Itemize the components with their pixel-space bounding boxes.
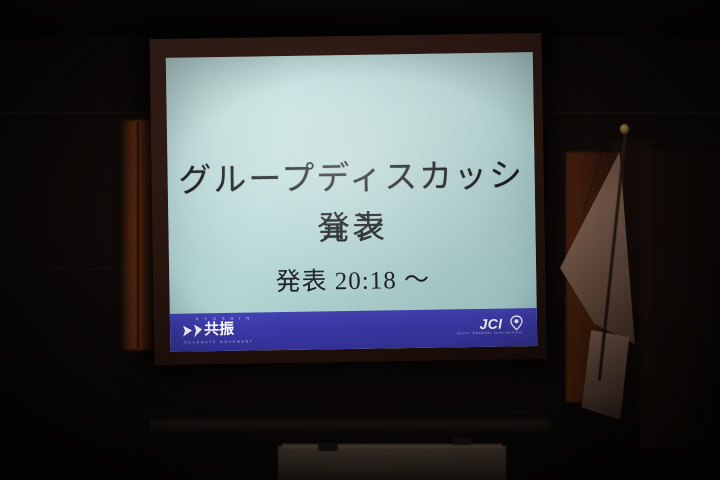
projection-screen-surface: グループディスカッション 発表 発表 20:18 〜 K Y O S H I N… <box>166 52 538 352</box>
gold-finial <box>620 124 629 134</box>
slide-footer-banner: K Y O S H I N 共振 RESONATE MOVEMENT JCI J… <box>170 308 538 352</box>
kyoshin-kanji: 共振 <box>204 320 234 338</box>
slide-title-line-2: 発表 <box>168 198 536 252</box>
jci-tagline: Junior Chamber International <box>457 330 523 335</box>
kyoshin-tagline: RESONATE MOVEMENT <box>184 339 254 344</box>
ceiling-band <box>0 0 720 36</box>
kyoshin-logo: K Y O S H I N 共振 RESONATE MOVEMENT <box>182 315 266 348</box>
wall-pillar-edge <box>137 122 139 348</box>
screen-base-shadow <box>150 420 550 434</box>
slide-time-line: 発表 20:18 〜 <box>169 258 537 300</box>
presentation-table <box>278 446 506 480</box>
right-wood-panel-far <box>640 150 720 450</box>
jci-wordmark: JCI <box>479 315 502 331</box>
table-foot-left <box>318 443 338 451</box>
table-foot-right <box>452 437 472 445</box>
jci-logo: JCI Junior Chamber International <box>479 314 523 339</box>
photo-scene: グループディスカッション 発表 発表 20:18 〜 K Y O S H I N… <box>0 0 720 480</box>
x-mark-icon <box>182 322 204 339</box>
projection-screen-frame: グループディスカッション 発表 発表 20:18 〜 K Y O S H I N… <box>149 33 546 365</box>
jci-pin-icon <box>510 316 523 331</box>
slide-body: グループディスカッション 発表 発表 20:18 〜 <box>166 52 537 314</box>
